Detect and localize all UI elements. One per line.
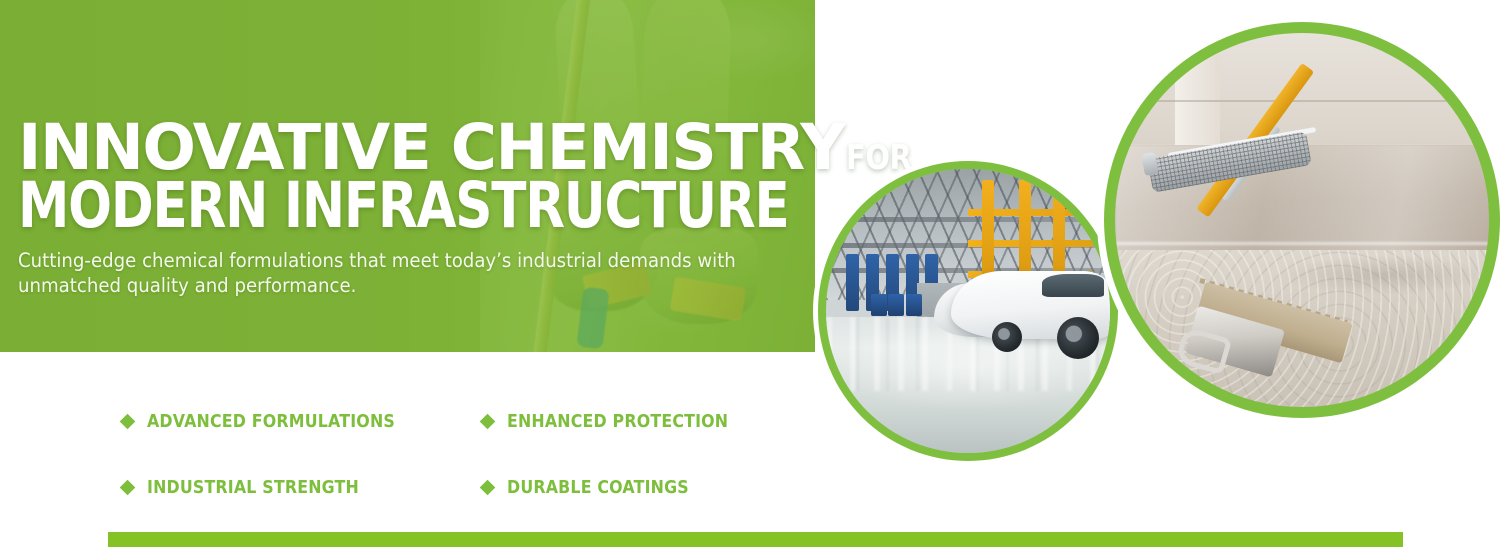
warehouse-blue-lift-post [846, 254, 859, 311]
epoxy-wall-seam [1115, 100, 1489, 102]
warehouse-scene [826, 169, 1110, 453]
epoxy-wet-dry-boundary [1115, 242, 1489, 245]
epoxy-application-scene [1115, 33, 1489, 407]
circle-image-epoxy-application [1104, 22, 1500, 418]
warehouse-car-wheel [1057, 317, 1099, 359]
feature-label: DURABLE COATINGS [507, 477, 689, 498]
feature-label: ENHANCED PROTECTION [507, 411, 728, 432]
headline-group: INNOVATIVE CHEMISTRYFOR MODERN INFRASTRU… [18, 120, 838, 234]
diamond-bullet-icon [480, 479, 496, 495]
feature-item-industrial-strength[interactable]: INDUSTRIAL STRENGTH [122, 454, 482, 520]
warehouse-car-windshield [1042, 274, 1104, 297]
diamond-bullet-icon [120, 413, 136, 429]
circle-image-warehouse-epoxy-floor [818, 161, 1118, 461]
feature-list: ADVANCED FORMULATIONS ENHANCED PROTECTIO… [122, 388, 782, 520]
warehouse-blue-drum [871, 294, 887, 316]
diamond-bullet-icon [120, 479, 136, 495]
subtitle-group: Cutting-edge chemical formulations that … [18, 248, 762, 298]
bottom-accent-bar [108, 532, 1403, 547]
warehouse-blue-drum [906, 294, 922, 316]
hero-banner-stage: INNOVATIVE CHEMISTRYFOR MODERN INFRASTRU… [0, 0, 1500, 547]
subtitle-line-1: Cutting-edge chemical formulations that … [18, 248, 762, 273]
warehouse-blue-drum [888, 294, 904, 316]
feature-item-advanced-formulations[interactable]: ADVANCED FORMULATIONS [122, 388, 482, 454]
subtitle-line-2: unmatched quality and performance. [18, 273, 762, 298]
warehouse-beam [826, 217, 1110, 222]
feature-label: ADVANCED FORMULATIONS [147, 411, 395, 432]
headline-line-2: MODERN INFRASTRUCTURE [18, 178, 690, 234]
feature-item-enhanced-protection[interactable]: ENHANCED PROTECTION [482, 388, 782, 454]
feature-item-durable-coatings[interactable]: DURABLE COATINGS [482, 454, 782, 520]
diamond-bullet-icon [480, 413, 496, 429]
feature-label: INDUSTRIAL STRENGTH [147, 477, 359, 498]
